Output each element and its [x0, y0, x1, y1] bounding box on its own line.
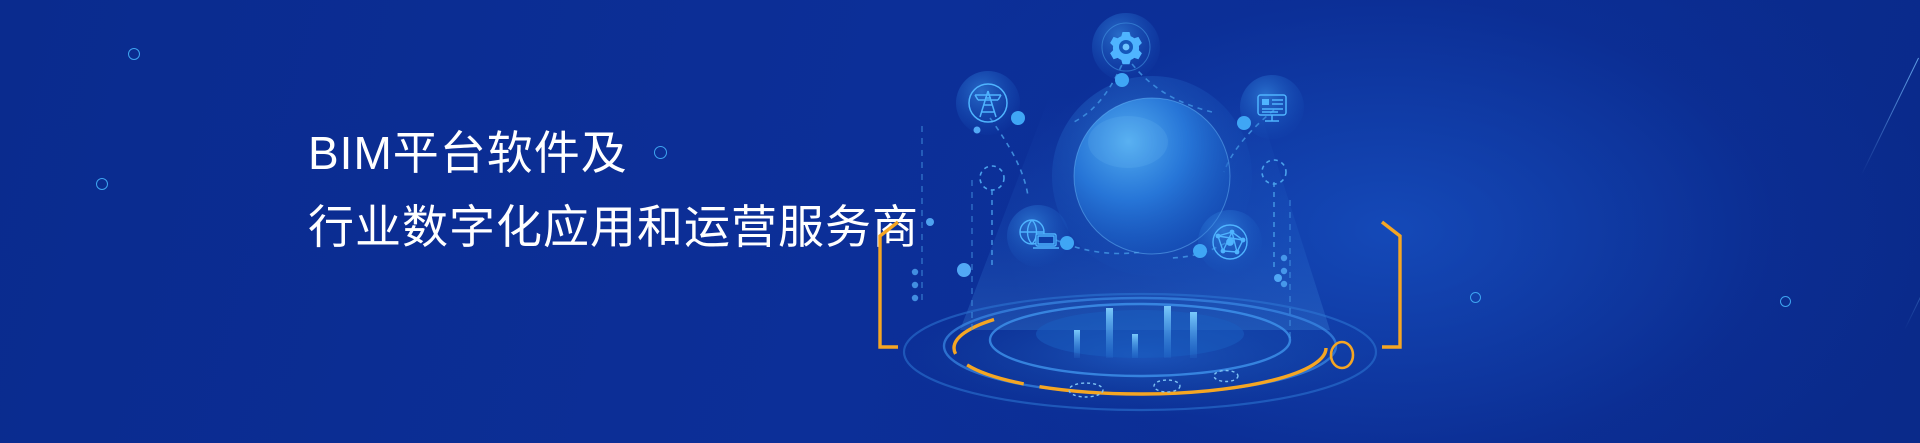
- bim-illustration: BIM: [860, 0, 1420, 443]
- headline-line-2: 行业数字化应用和运营服务商: [308, 190, 928, 264]
- platform-rings: [898, 293, 1382, 417]
- diagonal-streak: [1861, 58, 1919, 175]
- headline-line-1: BIM平台软件及: [308, 116, 928, 190]
- circle-marker: [1470, 292, 1481, 303]
- gear-icon-bubble: [1092, 13, 1160, 87]
- diagonal-streak: [1904, 222, 1920, 330]
- circle-marker: [128, 48, 140, 60]
- circle-marker: [1780, 296, 1791, 307]
- hero-banner: BIM平台软件及 行业数字化应用和运营服务商: [0, 0, 1920, 443]
- transmission-tower-icon-bubble: [956, 71, 1025, 135]
- circle-marker: [96, 178, 108, 190]
- hero-headline: BIM平台软件及 行业数字化应用和运营服务商: [308, 116, 928, 264]
